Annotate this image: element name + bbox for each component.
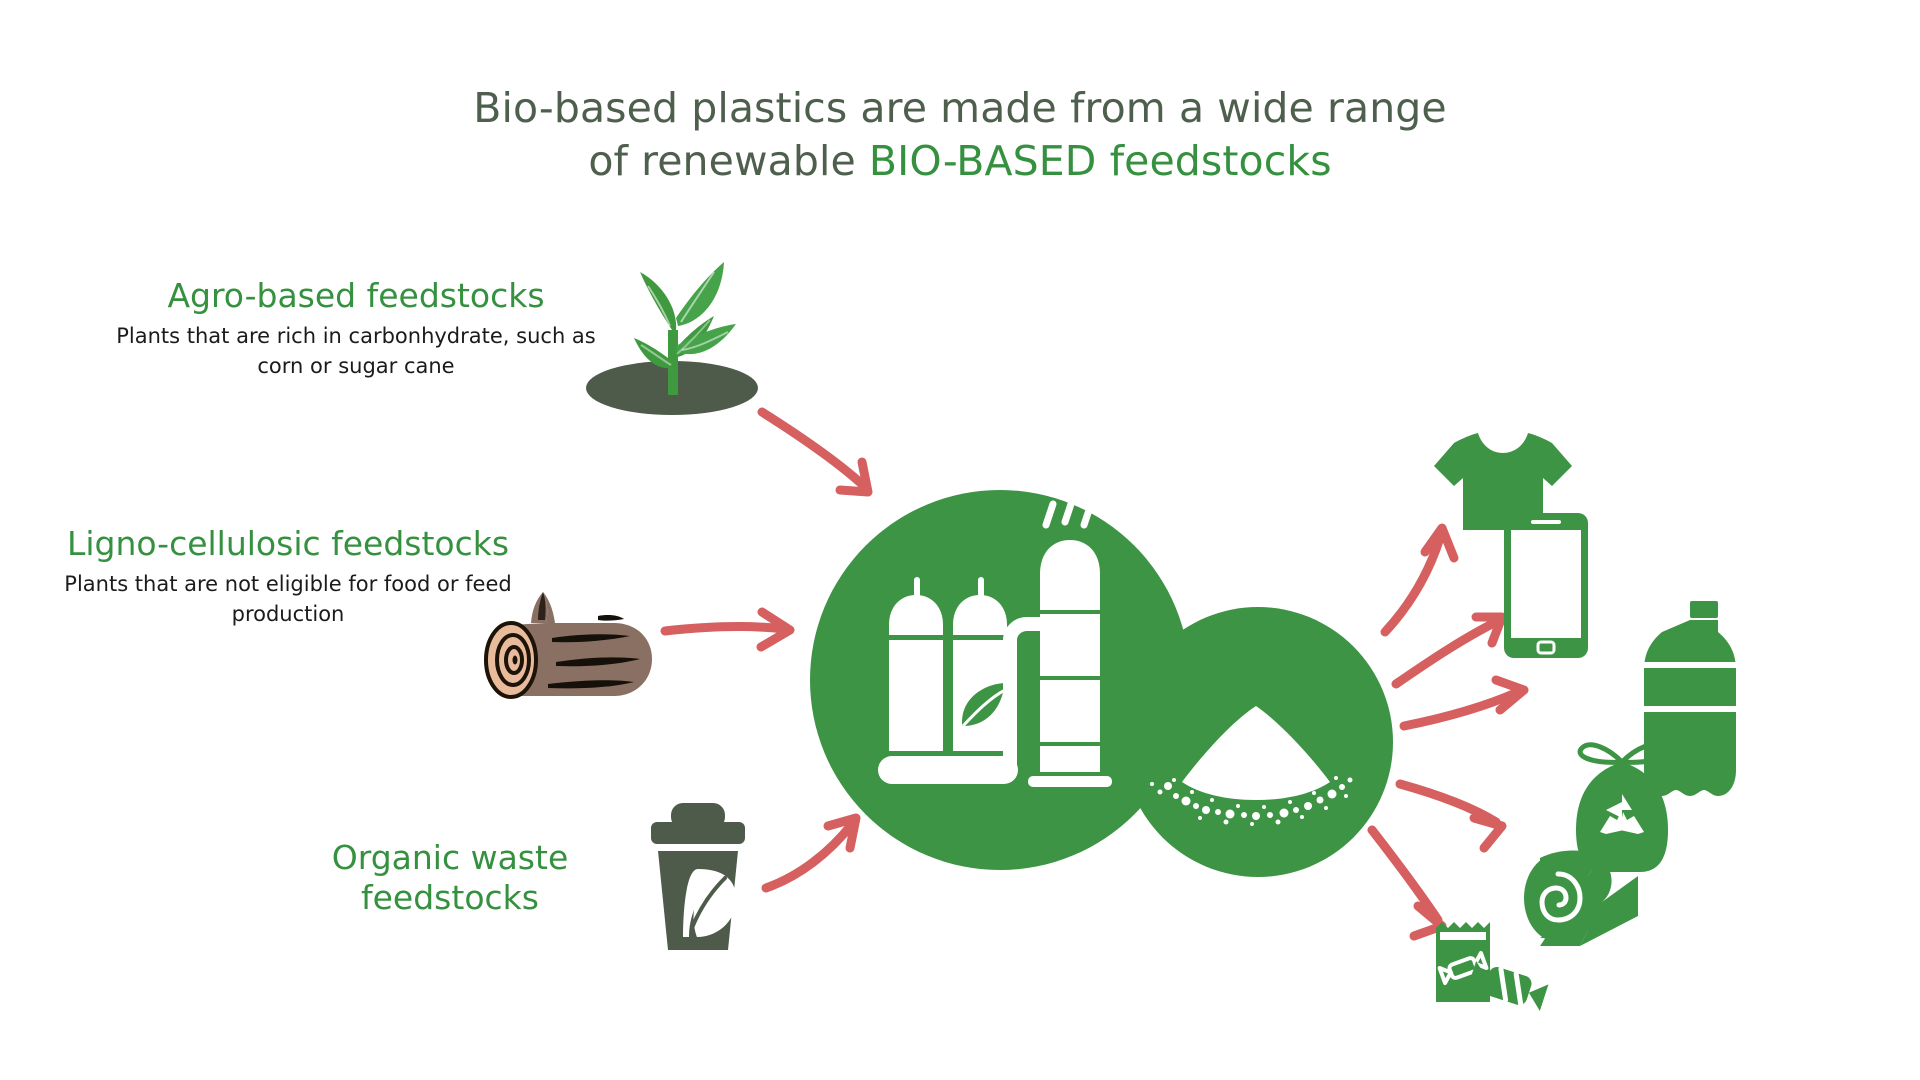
smartphone-icon <box>1504 513 1588 658</box>
arrow-to-wastebag <box>1400 784 1502 848</box>
candy-bag-icon <box>1436 922 1549 1012</box>
plastic-bottle-icon <box>1643 601 1737 796</box>
organic-waste-bin-icon <box>651 803 745 950</box>
arrow-agro-to-biorefinery <box>762 412 868 492</box>
feedstock-group-agro: Agro-based feedstocks Plants that are ri… <box>96 276 616 382</box>
feedstock-description-agro: Plants that are rich in carbonhydrate, s… <box>96 322 616 382</box>
feedstock-group-waste: Organic waste feedstocks <box>300 838 600 919</box>
feedstock-title-agro: Agro-based feedstocks <box>96 276 616 316</box>
arrow-to-bottle <box>1404 680 1524 726</box>
arrow-ligno-to-biorefinery <box>665 612 790 647</box>
infographic-canvas: Bio-based plastics are made from a wide … <box>0 0 1920 1080</box>
feedstock-description-ligno: Plants that are not eligible for food or… <box>28 570 548 630</box>
feedstock-title-waste: Organic waste feedstocks <box>300 838 600 919</box>
arrow-to-tshirt <box>1385 528 1454 632</box>
feedstock-title-ligno: Ligno-cellulosic feedstocks <box>28 524 548 564</box>
arrow-to-candybag <box>1372 830 1442 936</box>
feedstock-group-ligno: Ligno-cellulosic feedstocks Plants that … <box>28 524 548 630</box>
arrow-waste-to-biorefinery <box>766 818 856 888</box>
arrow-to-smartphone <box>1396 617 1502 684</box>
